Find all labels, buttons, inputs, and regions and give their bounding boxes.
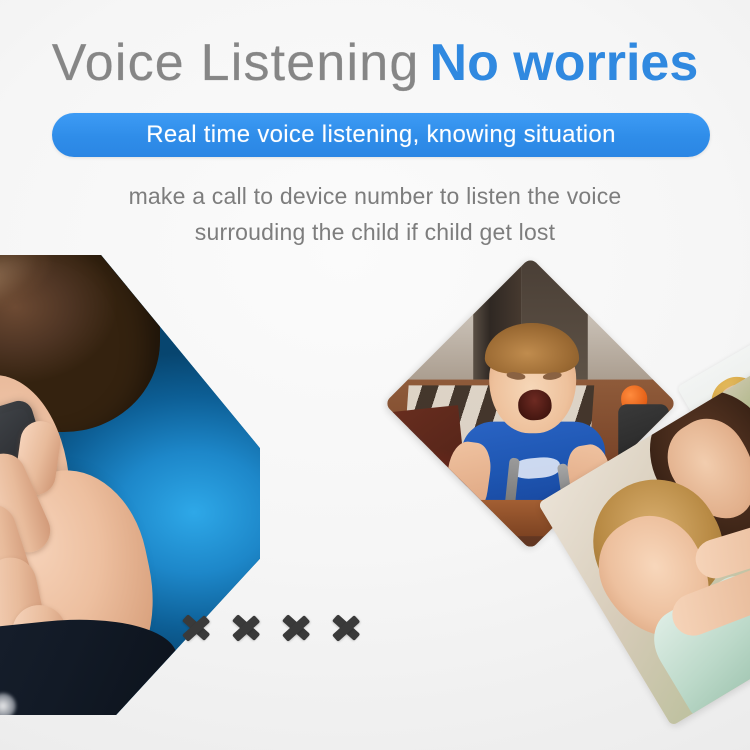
tagline-banner: Real time voice listening, knowing situa… xyxy=(52,113,710,157)
page-title-accent: No worries xyxy=(430,34,699,92)
page-title: Voice ListeningNo worries xyxy=(0,30,750,96)
description-block: make a call to device number to listen t… xyxy=(0,178,750,250)
page-title-plain: Voice Listening xyxy=(52,34,420,92)
chevron-right-icon xyxy=(232,607,266,649)
chevron-right-icon xyxy=(332,607,366,649)
photo-collage xyxy=(0,255,750,750)
description-line-1: make a call to device number to listen t… xyxy=(0,178,750,214)
promo-poster: Voice ListeningNo worries Real time voic… xyxy=(0,0,750,750)
hair-highlight xyxy=(0,255,60,331)
tagline-text: Real time voice listening, knowing situa… xyxy=(146,121,615,149)
description-line-2: surrouding the child if child get lost xyxy=(0,214,750,250)
chevron-right-icon xyxy=(282,607,316,649)
chevron-right-icon xyxy=(182,607,216,649)
forward-arrows xyxy=(182,607,366,649)
